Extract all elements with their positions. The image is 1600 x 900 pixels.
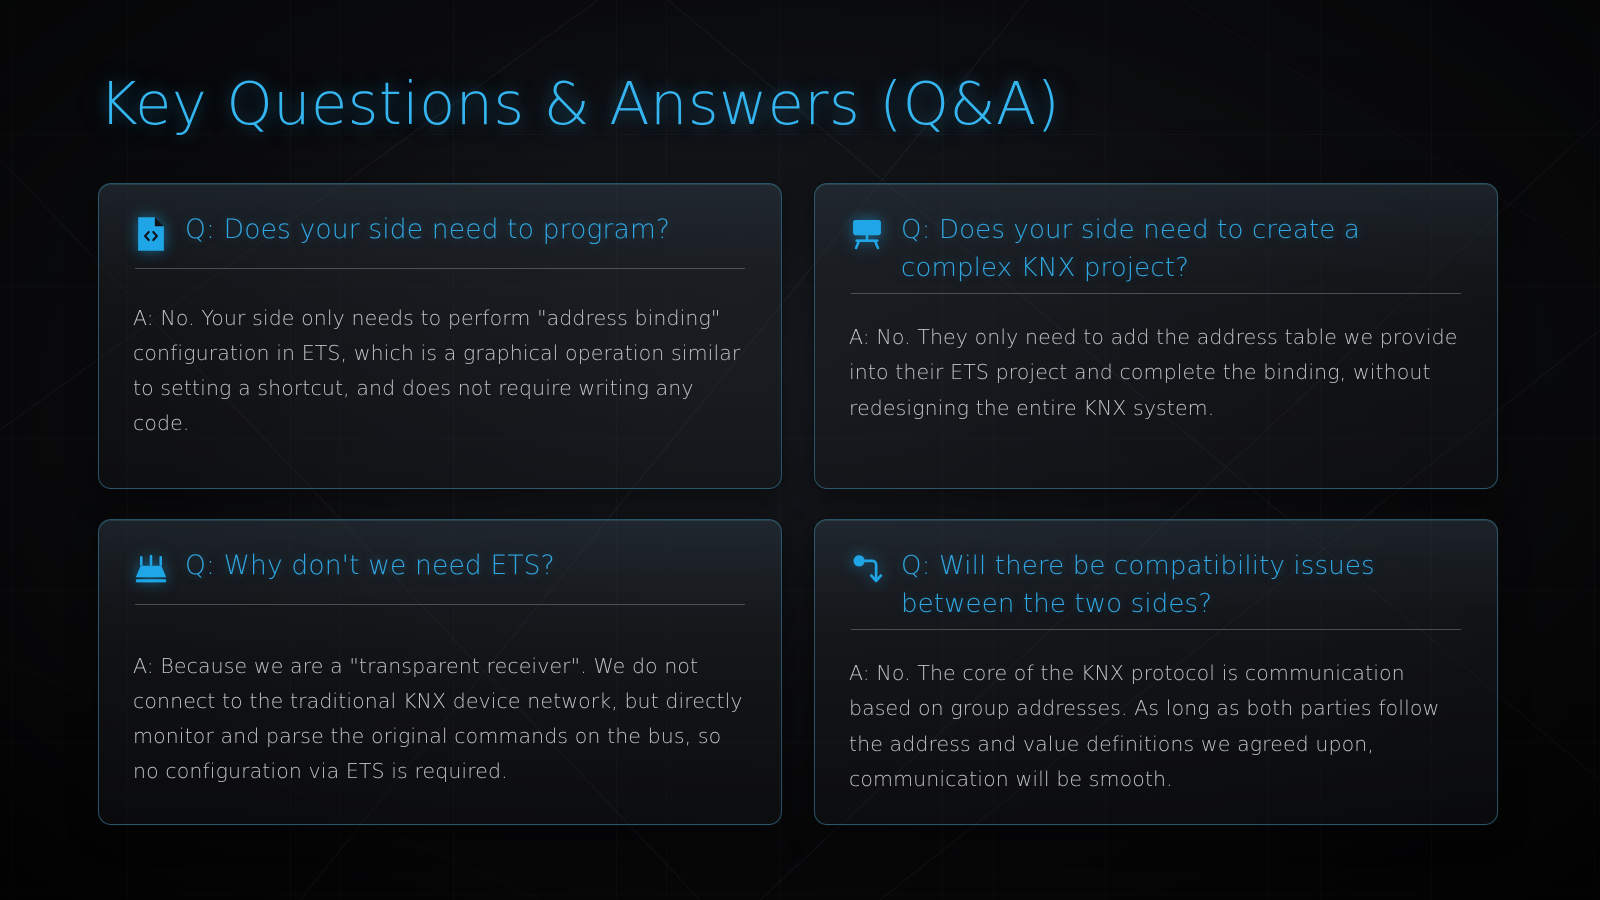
page-title: Key Questions & Answers (Q&A) (99, 69, 1060, 138)
card-header: Q: Does your side need to program? (133, 210, 747, 256)
qa-card[interactable]: Q: Why don't we need ETS? A: Because we … (98, 519, 782, 825)
card-divider (135, 268, 745, 269)
card-answer: A: Because we are a "transparent receive… (133, 649, 747, 789)
router-icon (133, 550, 169, 590)
qa-card[interactable]: Q: Will there be compatibility issues be… (814, 519, 1498, 825)
route-arrow-icon (849, 550, 885, 590)
card-divider (851, 293, 1461, 294)
card-header: Q: Will there be compatibility issues be… (849, 546, 1463, 623)
qa-card[interactable]: Q: Does your side need to program? A: No… (98, 183, 782, 489)
card-question: Q: Does your side need to create a compl… (901, 210, 1463, 287)
card-answer: A: No. Your side only needs to perform "… (133, 301, 747, 441)
card-question: Q: Why don't we need ETS? (185, 546, 555, 586)
slide-root: Key Questions & Answers (Q&A) Q: Does yo… (0, 0, 1600, 900)
presentation-screen-icon (849, 214, 885, 254)
card-header: Q: Does your side need to create a compl… (849, 210, 1463, 287)
card-divider (851, 629, 1461, 630)
card-question: Q: Will there be compatibility issues be… (901, 546, 1463, 623)
card-question: Q: Does your side need to program? (185, 210, 670, 250)
file-code-icon (133, 214, 169, 254)
qa-card-grid: Q: Does your side need to program? A: No… (98, 183, 1498, 825)
qa-card[interactable]: Q: Does your side need to create a compl… (814, 183, 1498, 489)
card-header: Q: Why don't we need ETS? (133, 546, 747, 592)
card-answer: A: No. They only need to add the address… (849, 320, 1463, 425)
card-answer: A: No. The core of the KNX protocol is c… (849, 656, 1463, 796)
card-divider (135, 604, 745, 605)
